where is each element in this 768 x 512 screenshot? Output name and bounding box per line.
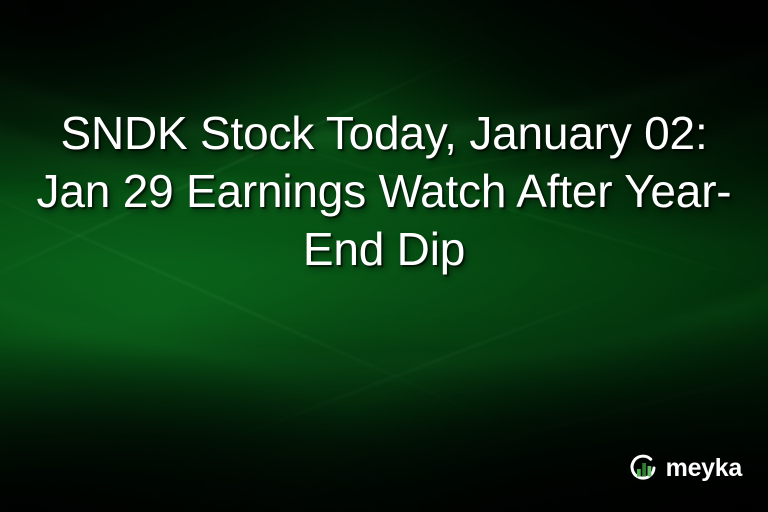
article-banner: SNDK Stock Today, January 02: Jan 29 Ear… xyxy=(0,0,768,512)
headline-container: SNDK Stock Today, January 02: Jan 29 Ear… xyxy=(0,104,768,278)
brand-logo[interactable]: meyka xyxy=(627,452,742,484)
page-title: SNDK Stock Today, January 02: Jan 29 Ear… xyxy=(36,104,732,278)
shadow-band xyxy=(127,364,768,512)
circular-bar-chart-icon xyxy=(627,452,659,484)
brand-name: meyka xyxy=(666,456,742,481)
light-streak xyxy=(150,284,636,471)
